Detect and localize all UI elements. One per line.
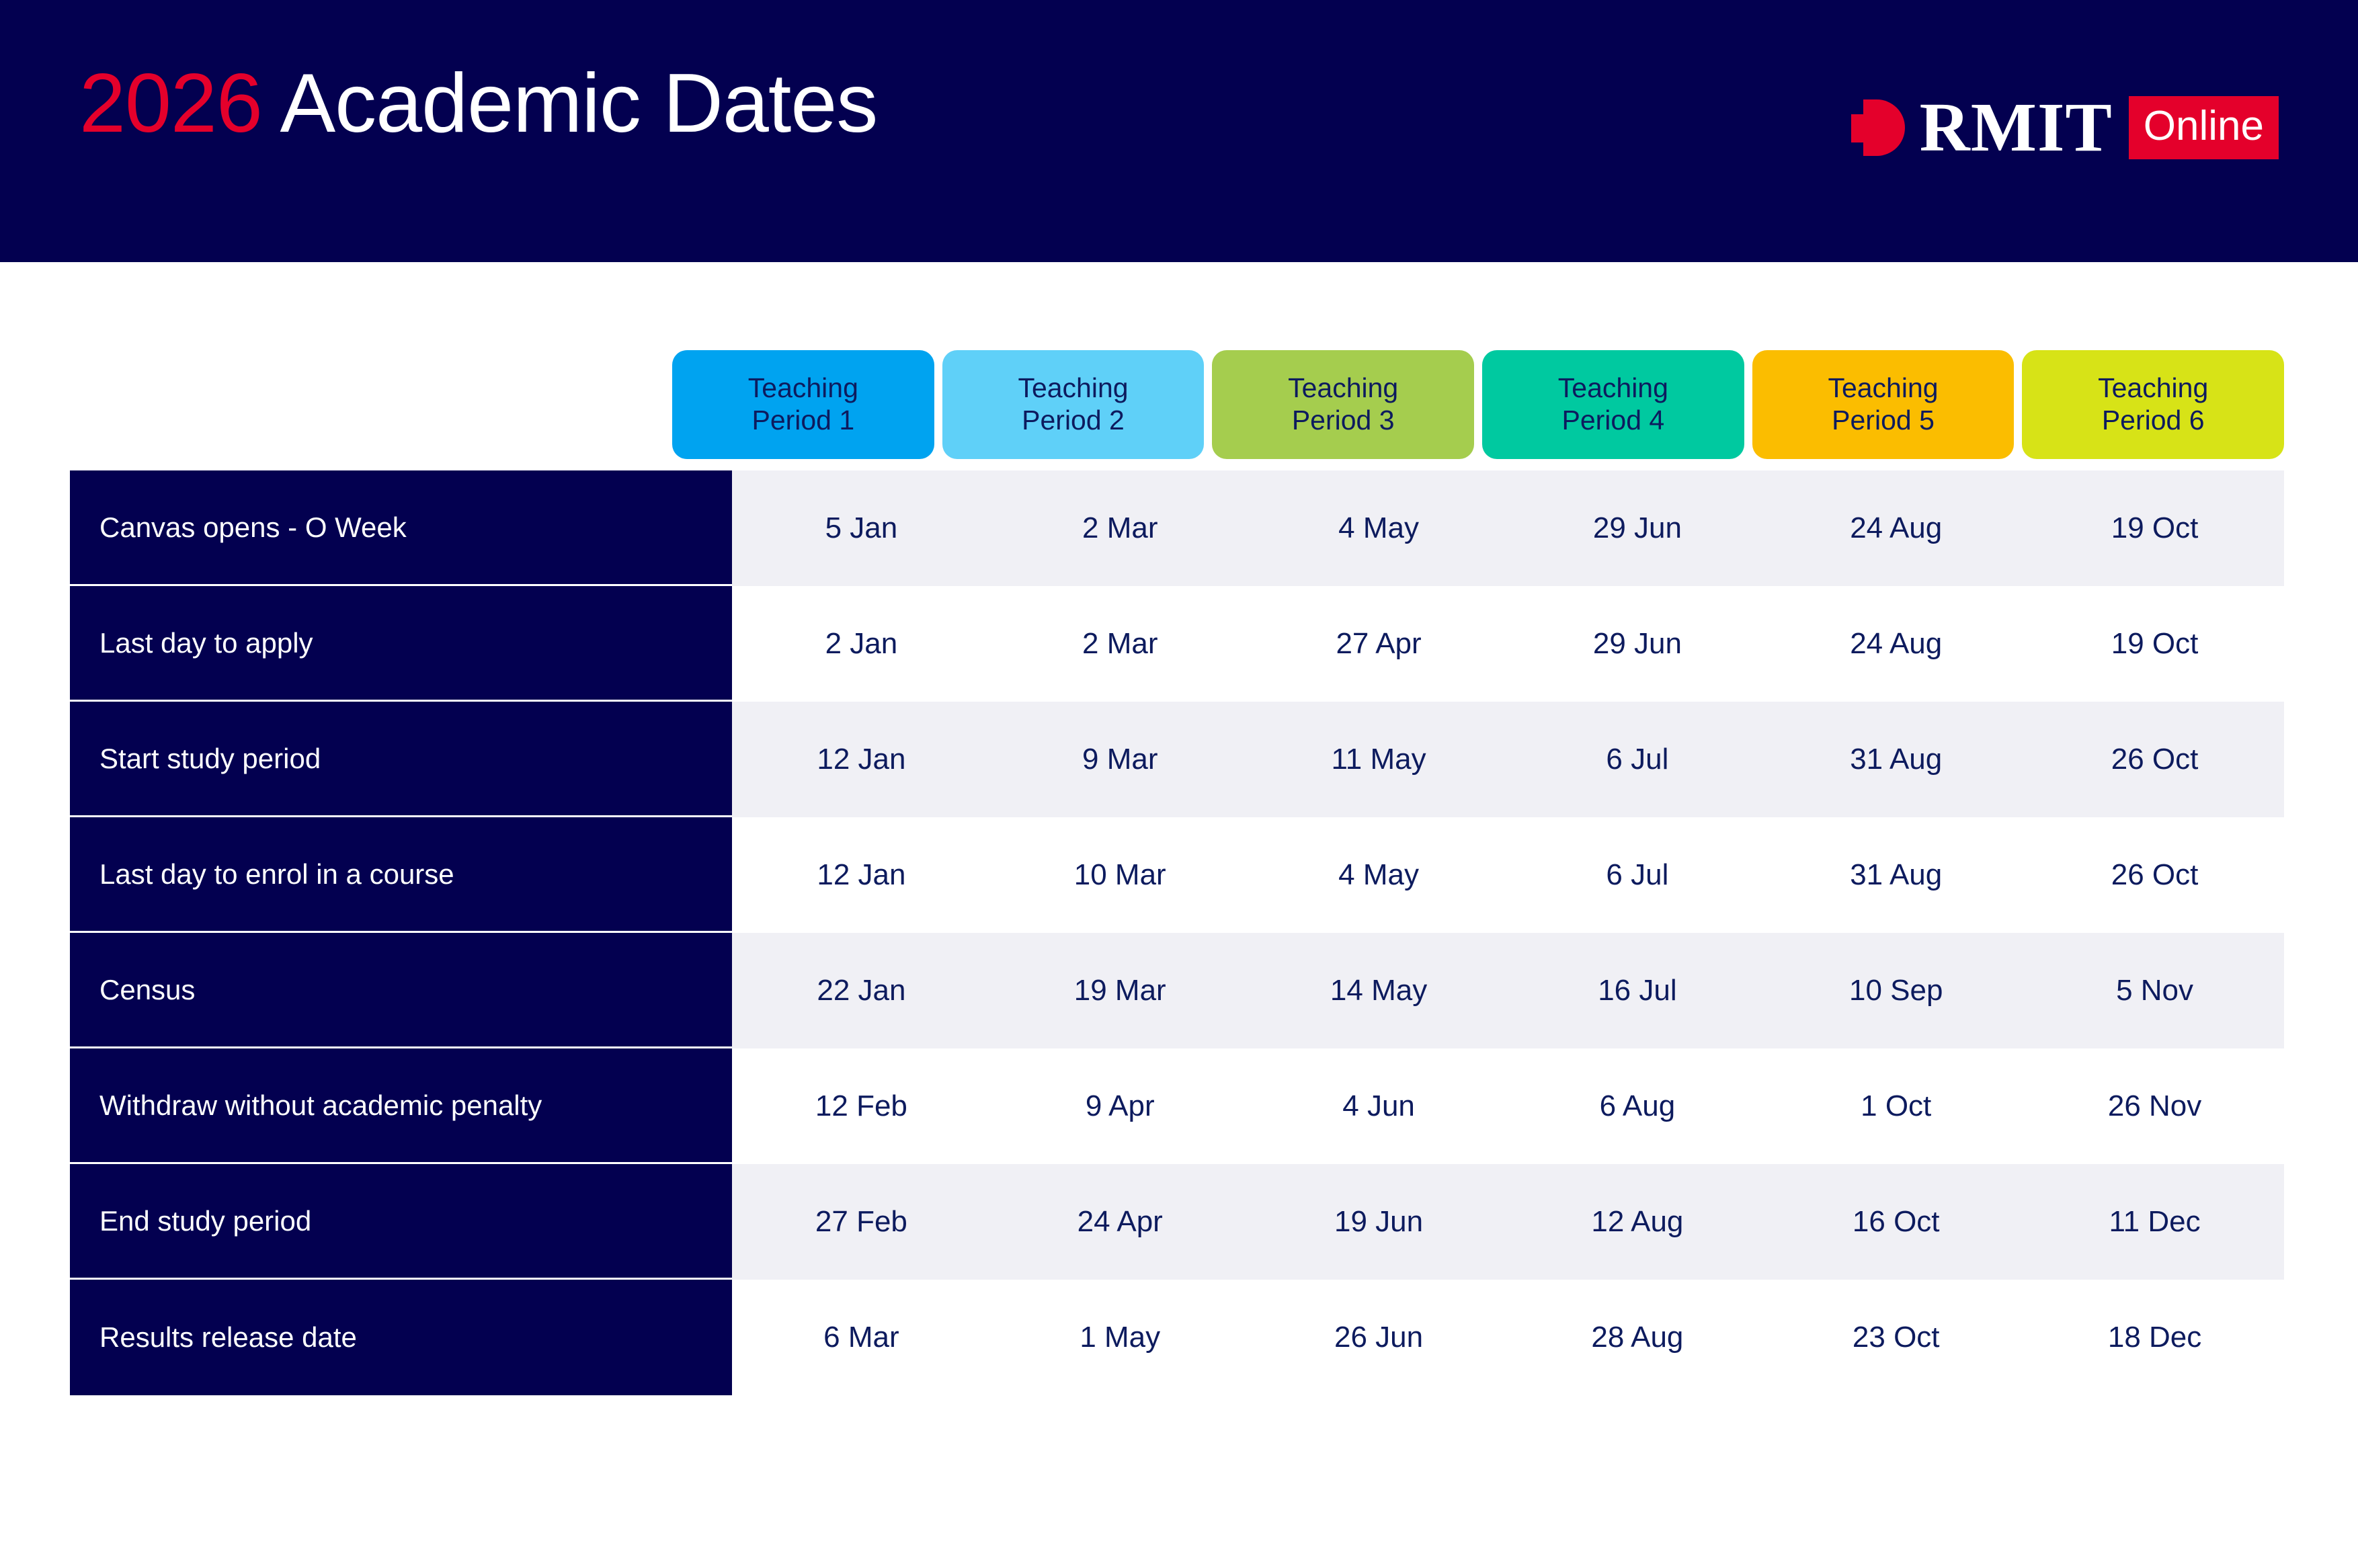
date-cell-tp3: 4 May bbox=[1250, 511, 1508, 545]
date-cell-tp2: 1 May bbox=[991, 1321, 1250, 1354]
column-header-line2: Period 2 bbox=[1022, 405, 1125, 437]
row-label: Last day to enrol in a course bbox=[70, 817, 732, 933]
date-cell-tp3: 26 Jun bbox=[1250, 1321, 1508, 1354]
date-cell-tp5: 24 Aug bbox=[1766, 627, 2025, 661]
row-label: Withdraw without academic penalty bbox=[70, 1048, 732, 1164]
column-header-teaching-period-5[interactable]: TeachingPeriod 5 bbox=[1752, 350, 2015, 459]
date-cell-tp4: 6 Jul bbox=[1508, 858, 1766, 892]
column-header-line1: Teaching bbox=[2098, 372, 2208, 405]
academic-dates-table: TeachingPeriod 1TeachingPeriod 2Teaching… bbox=[0, 262, 2358, 1568]
date-cell-tp6: 26 Oct bbox=[2025, 743, 2284, 776]
column-header-line1: Teaching bbox=[1828, 372, 1938, 405]
column-header-row: TeachingPeriod 1TeachingPeriod 2Teaching… bbox=[672, 350, 2284, 459]
rmit-wordmark: RMIT bbox=[1920, 93, 2113, 163]
table-rows: Canvas opens - O Week5 Jan2 Mar4 May29 J… bbox=[0, 470, 2358, 1395]
date-cell-tp4: 12 Aug bbox=[1508, 1205, 1766, 1239]
date-cell-tp2: 24 Apr bbox=[991, 1205, 1250, 1239]
column-header-teaching-period-6[interactable]: TeachingPeriod 6 bbox=[2022, 350, 2284, 459]
row-cells: 12 Jan9 Mar11 May6 Jul31 Aug26 Oct bbox=[732, 702, 2284, 817]
column-header-teaching-period-2[interactable]: TeachingPeriod 2 bbox=[942, 350, 1205, 459]
column-header-line1: Teaching bbox=[1288, 372, 1398, 405]
date-cell-tp3: 27 Apr bbox=[1250, 627, 1508, 661]
date-cell-tp1: 2 Jan bbox=[732, 627, 991, 661]
row-cells: 6 Mar1 May26 Jun28 Aug23 Oct18 Dec bbox=[732, 1280, 2284, 1395]
date-cell-tp1: 12 Jan bbox=[732, 743, 991, 776]
date-cell-tp1: 12 Jan bbox=[732, 858, 991, 892]
date-cell-tp3: 4 Jun bbox=[1250, 1089, 1508, 1123]
column-header-line2: Period 5 bbox=[1832, 405, 1935, 437]
date-cell-tp3: 19 Jun bbox=[1250, 1205, 1508, 1239]
page-header-band: 2026 Academic Dates RMIT Online bbox=[0, 0, 2358, 262]
date-cell-tp4: 6 Aug bbox=[1508, 1089, 1766, 1123]
row-cells: 5 Jan2 Mar4 May29 Jun24 Aug19 Oct bbox=[732, 470, 2284, 586]
table-row: Last day to enrol in a course12 Jan10 Ma… bbox=[0, 817, 2358, 933]
column-header-line2: Period 4 bbox=[1561, 405, 1664, 437]
column-header-line2: Period 1 bbox=[751, 405, 854, 437]
table-row: Start study period12 Jan9 Mar11 May6 Jul… bbox=[0, 702, 2358, 817]
date-cell-tp1: 22 Jan bbox=[732, 974, 991, 1007]
row-label: Census bbox=[70, 933, 732, 1048]
column-header-teaching-period-1[interactable]: TeachingPeriod 1 bbox=[672, 350, 934, 459]
row-label: Canvas opens - O Week bbox=[70, 470, 732, 586]
column-header-line2: Period 6 bbox=[2102, 405, 2205, 437]
row-cells: 2 Jan2 Mar27 Apr29 Jun24 Aug19 Oct bbox=[732, 586, 2284, 702]
date-cell-tp4: 29 Jun bbox=[1508, 511, 1766, 545]
date-cell-tp6: 11 Dec bbox=[2025, 1205, 2284, 1239]
date-cell-tp5: 23 Oct bbox=[1766, 1321, 2025, 1354]
date-cell-tp5: 24 Aug bbox=[1766, 511, 2025, 545]
table-row: Canvas opens - O Week5 Jan2 Mar4 May29 J… bbox=[0, 470, 2358, 586]
date-cell-tp1: 12 Feb bbox=[732, 1089, 991, 1123]
date-cell-tp5: 16 Oct bbox=[1766, 1205, 2025, 1239]
date-cell-tp2: 9 Apr bbox=[991, 1089, 1250, 1123]
row-cells: 12 Feb9 Apr4 Jun6 Aug1 Oct26 Nov bbox=[732, 1048, 2284, 1164]
date-cell-tp6: 26 Nov bbox=[2025, 1089, 2284, 1123]
date-cell-tp1: 6 Mar bbox=[732, 1321, 991, 1354]
table-row: Last day to apply2 Jan2 Mar27 Apr29 Jun2… bbox=[0, 586, 2358, 702]
date-cell-tp2: 19 Mar bbox=[991, 974, 1250, 1007]
rmit-logo-disc-shape bbox=[1863, 99, 1905, 156]
date-cell-tp5: 31 Aug bbox=[1766, 858, 2025, 892]
column-header-teaching-period-4[interactable]: TeachingPeriod 4 bbox=[1482, 350, 1744, 459]
row-label: Start study period bbox=[70, 702, 732, 817]
date-cell-tp1: 27 Feb bbox=[732, 1205, 991, 1239]
table-row: End study period27 Feb24 Apr19 Jun12 Aug… bbox=[0, 1164, 2358, 1280]
rmit-online-logo: RMIT Online bbox=[1851, 87, 2279, 168]
date-cell-tp2: 2 Mar bbox=[991, 627, 1250, 661]
date-cell-tp6: 19 Oct bbox=[2025, 511, 2284, 545]
date-cell-tp4: 6 Jul bbox=[1508, 743, 1766, 776]
date-cell-tp2: 2 Mar bbox=[991, 511, 1250, 545]
row-cells: 12 Jan10 Mar4 May6 Jul31 Aug26 Oct bbox=[732, 817, 2284, 933]
date-cell-tp5: 10 Sep bbox=[1766, 974, 2025, 1007]
date-cell-tp4: 29 Jun bbox=[1508, 627, 1766, 661]
date-cell-tp4: 28 Aug bbox=[1508, 1321, 1766, 1354]
date-cell-tp6: 18 Dec bbox=[2025, 1321, 2284, 1354]
table-row: Results release date6 Mar1 May26 Jun28 A… bbox=[0, 1280, 2358, 1395]
date-cell-tp3: 11 May bbox=[1250, 743, 1508, 776]
date-cell-tp6: 26 Oct bbox=[2025, 858, 2284, 892]
column-header-teaching-period-3[interactable]: TeachingPeriod 3 bbox=[1212, 350, 1474, 459]
rmit-logo-mark-icon bbox=[1851, 99, 1905, 156]
date-cell-tp3: 4 May bbox=[1250, 858, 1508, 892]
column-header-line1: Teaching bbox=[1018, 372, 1128, 405]
table-row: Withdraw without academic penalty12 Feb9… bbox=[0, 1048, 2358, 1164]
page-title-rest: Academic Dates bbox=[262, 57, 877, 150]
date-cell-tp6: 19 Oct bbox=[2025, 627, 2284, 661]
date-cell-tp5: 1 Oct bbox=[1766, 1089, 2025, 1123]
row-label: Results release date bbox=[70, 1280, 732, 1395]
date-cell-tp4: 16 Jul bbox=[1508, 974, 1766, 1007]
column-header-line2: Period 3 bbox=[1292, 405, 1395, 437]
page-title-year: 2026 bbox=[79, 57, 262, 150]
online-badge: Online bbox=[2129, 96, 2279, 159]
date-cell-tp1: 5 Jan bbox=[732, 511, 991, 545]
date-cell-tp2: 10 Mar bbox=[991, 858, 1250, 892]
row-cells: 22 Jan19 Mar14 May16 Jul10 Sep5 Nov bbox=[732, 933, 2284, 1048]
row-label: End study period bbox=[70, 1164, 732, 1280]
table-row: Census22 Jan19 Mar14 May16 Jul10 Sep5 No… bbox=[0, 933, 2358, 1048]
row-cells: 27 Feb24 Apr19 Jun12 Aug16 Oct11 Dec bbox=[732, 1164, 2284, 1280]
date-cell-tp5: 31 Aug bbox=[1766, 743, 2025, 776]
page-title: 2026 Academic Dates bbox=[79, 62, 877, 145]
row-label: Last day to apply bbox=[70, 586, 732, 702]
column-header-line1: Teaching bbox=[748, 372, 858, 405]
date-cell-tp3: 14 May bbox=[1250, 974, 1508, 1007]
date-cell-tp2: 9 Mar bbox=[991, 743, 1250, 776]
column-header-line1: Teaching bbox=[1558, 372, 1668, 405]
date-cell-tp6: 5 Nov bbox=[2025, 974, 2284, 1007]
